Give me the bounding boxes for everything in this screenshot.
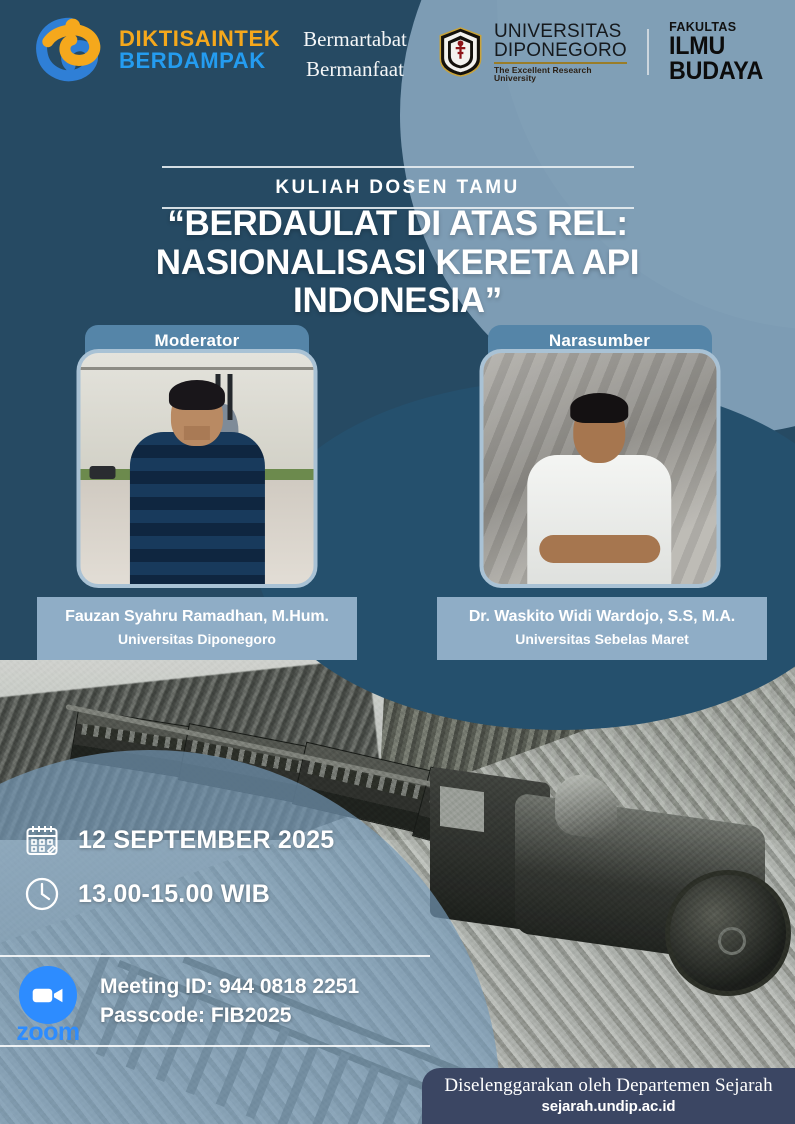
photo-window-slit [227,374,232,420]
divider-above-zoom [0,955,430,957]
event-time: 13.00-15.00 WIB [78,880,270,909]
faculty-wordmark: FAKULTAS ILMU BUDAYA [669,21,795,84]
event-date-row: 12 SEPTEMBER 2025 [24,822,404,858]
page-title: “BERDAULAT DI ATAS REL: NASIONALISASI KE… [0,205,795,321]
footer-website[interactable]: sejarah.undip.ac.id [422,1098,795,1115]
event-date: 12 SEPTEMBER 2025 [78,826,334,855]
calendar-icon [24,822,60,858]
event-info-block: 12 SEPTEMBER 2025 13.00-15.00 WIB [24,822,404,930]
footer-banner: Diselenggarakan oleh Departemen Sejarah … [422,1068,795,1124]
poster-header: DIKTISAINTEK BERDAMPAK Bermartabat Berma… [0,0,795,100]
photo-person-crossed-arms [539,535,660,563]
event-time-row: 13.00-15.00 WIB [24,876,404,912]
undip-tagline: The Excellent Research University [494,66,627,83]
narasumber-nameplate: Dr. Waskito Widi Wardojo, S.S, M.A. Univ… [437,597,767,660]
diktisaintek-logo-icon [33,14,107,86]
zoom-meeting-id: Meeting ID: 944 0818 2251 [100,973,359,1002]
zoom-credentials: Meeting ID: 944 0818 2251 Passcode: FIB2… [100,966,359,1031]
tagline-line1: Bermartabat [295,24,415,54]
diktisaintek-line1: DIKTISAINTEK [119,28,280,50]
zoom-video-camera-icon [19,966,77,1024]
zoom-passcode: Passcode: FIB2025 [100,1002,359,1031]
undip-line2: DIPONEGORO [494,41,627,60]
poster-root: DIKTISAINTEK BERDAMPAK Bermartabat Berma… [0,0,795,1124]
title-line-1: “BERDAULAT DI ATAS REL: [0,205,795,244]
diktisaintek-line2: BERDAMPAK [119,50,280,72]
photo-person-moderator [129,432,264,584]
zoom-wordmark: zoom [12,1018,84,1047]
moderator-name: Fauzan Syahru Ramadhan, M.Hum. [43,608,351,626]
footer-organizer: Diselenggarakan oleh Departemen Sejarah [422,1075,795,1097]
photo-person-narasumber [527,455,671,584]
narasumber-photo-artwork [483,353,716,584]
header-vertical-divider [647,29,649,75]
moderator-photo-artwork [81,353,314,584]
narasumber-affiliation: Universitas Sebelas Maret [443,631,761,647]
zoom-block: zoom Meeting ID: 944 0818 2251 Passcode:… [12,966,359,1042]
undip-brand: UNIVERSITAS DIPONEGORO The Excellent Res… [438,21,795,84]
photo-motorbike [90,466,116,479]
diktisaintek-wordmark: DIKTISAINTEK BERDAMPAK [119,28,280,73]
photo-wall-band [81,367,314,370]
title-line-3: INDONESIA” [0,282,795,321]
narasumber-name: Dr. Waskito Widi Wardojo, S.S, M.A. [443,608,761,626]
clock-icon [24,876,60,912]
faculty-line2: ILMU BUDAYA [669,34,786,84]
eyebrow-rule-top [162,166,634,168]
undip-wordmark: UNIVERSITAS DIPONEGORO The Excellent Res… [494,22,627,83]
diktisaintek-brand: DIKTISAINTEK BERDAMPAK [33,14,280,86]
eyebrow-block: KULIAH DOSEN TAMU [0,166,795,209]
undip-divider [494,62,627,64]
photo-person-neck [184,426,210,440]
eyebrow-label: KULIAH DOSEN TAMU [0,168,795,207]
moderator-affiliation: Universitas Diponegoro [43,631,351,647]
zoom-logo: zoom [12,966,84,1042]
narasumber-photo [479,349,720,588]
undip-line1: UNIVERSITAS [494,22,627,41]
title-line-2: NASIONALISASI KERETA API [0,244,795,283]
undip-seal-icon [438,27,483,77]
moderator-photo [77,349,318,588]
tagline-line2: Bermanfaat [295,54,415,84]
moderator-nameplate: Fauzan Syahru Ramadhan, M.Hum. Universit… [37,597,357,660]
tagline: Bermartabat Bermanfaat [295,24,415,85]
divider-below-zoom [0,1045,430,1047]
